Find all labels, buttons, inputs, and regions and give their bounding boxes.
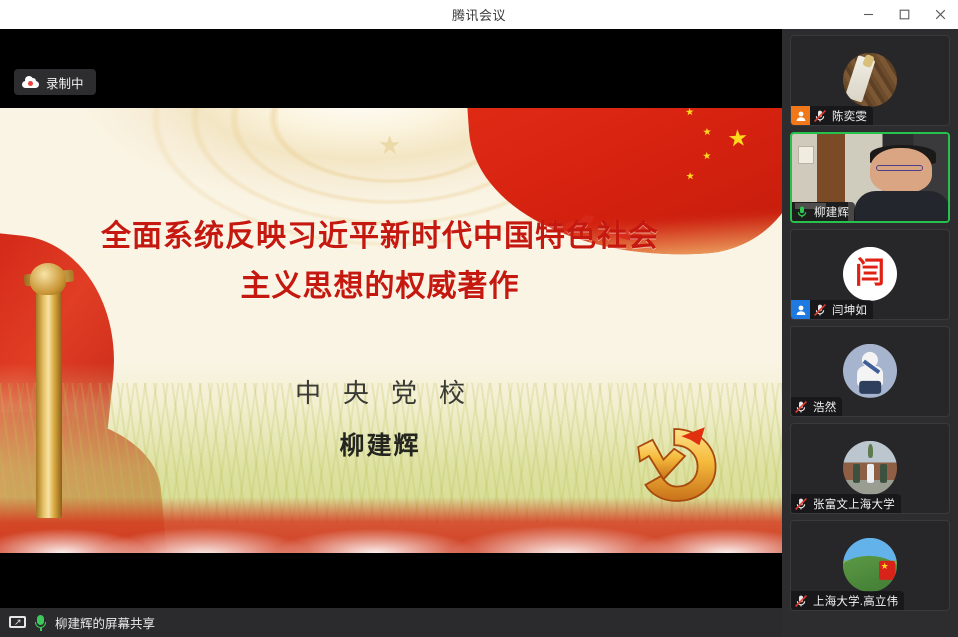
screen-share-icon: ↗ (9, 616, 26, 630)
participant-info-bar: 浩然 (791, 397, 842, 416)
participant-rail[interactable]: 陈奕雯 柳建辉 (782, 29, 958, 637)
slide-title-line-2: 主义思想的权威著作 (0, 262, 760, 312)
avatar (843, 440, 897, 494)
mic-on-icon (34, 615, 47, 631)
mic-muted-icon (810, 300, 830, 319)
participant-info-bar: 张富文上海大学 (791, 494, 901, 513)
host-badge-icon (791, 106, 810, 125)
mic-on-icon (792, 202, 812, 221)
participant-name: 陈奕雯 (830, 108, 867, 124)
mic-muted-icon (791, 494, 811, 513)
avatar: 闫 (843, 246, 897, 300)
flag-star-large: ★ (727, 126, 749, 150)
shared-screen-stage[interactable]: 录制中 ★ ★ ★ ★ ★ (0, 29, 782, 608)
minimize-icon (863, 9, 874, 20)
slide-organization: 中央党校 (0, 373, 760, 410)
slide-title: 全面系统反映习近平新时代中国特色社会 主义思想的权威著作 (0, 212, 760, 312)
tencent-meeting-window: 腾讯会议 (0, 0, 958, 637)
participant-info-bar: 陈奕雯 (791, 106, 873, 125)
screen-share-label: 柳建辉的屏幕共享 (55, 613, 155, 632)
participant-tile-2[interactable]: 闫 闫坤如 (790, 229, 950, 320)
mic-muted-icon (791, 591, 811, 610)
flag-star-small-4: ★ (685, 172, 695, 183)
participant-tile-5[interactable]: 上海大学.高立伟 (790, 520, 950, 611)
window-title: 腾讯会议 (452, 5, 506, 24)
flag-star-small-1: ★ (685, 108, 695, 118)
maximize-button[interactable] (886, 0, 922, 29)
participant-tile-0[interactable]: 陈奕雯 (790, 35, 950, 126)
recording-badge: 录制中 (14, 69, 96, 95)
avatar (843, 52, 897, 106)
presentation-slide: ★ ★ ★ ★ ★ (0, 108, 782, 553)
avatar (843, 343, 897, 397)
participant-tile-3[interactable]: 浩然 (790, 326, 950, 417)
participant-tile-1[interactable]: 柳建辉 (790, 132, 950, 223)
participant-tile-4[interactable]: 张富文上海大学 (790, 423, 950, 514)
flag-star-small-2: ★ (702, 128, 712, 139)
participant-info-bar: 柳建辉 (792, 202, 855, 221)
participant-name: 浩然 (811, 399, 836, 415)
slide-title-line-1: 全面系统反映习近平新时代中国特色社会 (0, 212, 760, 262)
participant-name: 张富文上海大学 (811, 496, 895, 512)
participant-info-bar: 闫坤如 (791, 300, 873, 319)
maximize-icon (899, 9, 910, 20)
cloud-record-icon (22, 76, 39, 88)
mic-muted-icon (791, 397, 811, 416)
recording-label: 录制中 (46, 73, 84, 92)
window-controls (850, 0, 958, 29)
flag-star-small-3: ★ (702, 152, 712, 163)
slide-speaker-name: 柳建辉 (0, 426, 760, 462)
participant-name: 闫坤如 (830, 302, 867, 318)
participant-name: 上海大学.高立伟 (811, 593, 898, 609)
user-badge-icon (791, 300, 810, 319)
avatar (843, 537, 897, 591)
participant-name: 柳建辉 (812, 204, 849, 220)
close-icon (935, 9, 946, 20)
cloud-base-decor (0, 513, 782, 553)
mic-muted-icon (810, 106, 830, 125)
close-button[interactable] (922, 0, 958, 29)
title-bar: 腾讯会议 (0, 0, 958, 30)
minimize-button[interactable] (850, 0, 886, 29)
participant-info-bar: 上海大学.高立伟 (791, 591, 904, 610)
screen-share-bar: ↗ 柳建辉的屏幕共享 (0, 608, 791, 637)
